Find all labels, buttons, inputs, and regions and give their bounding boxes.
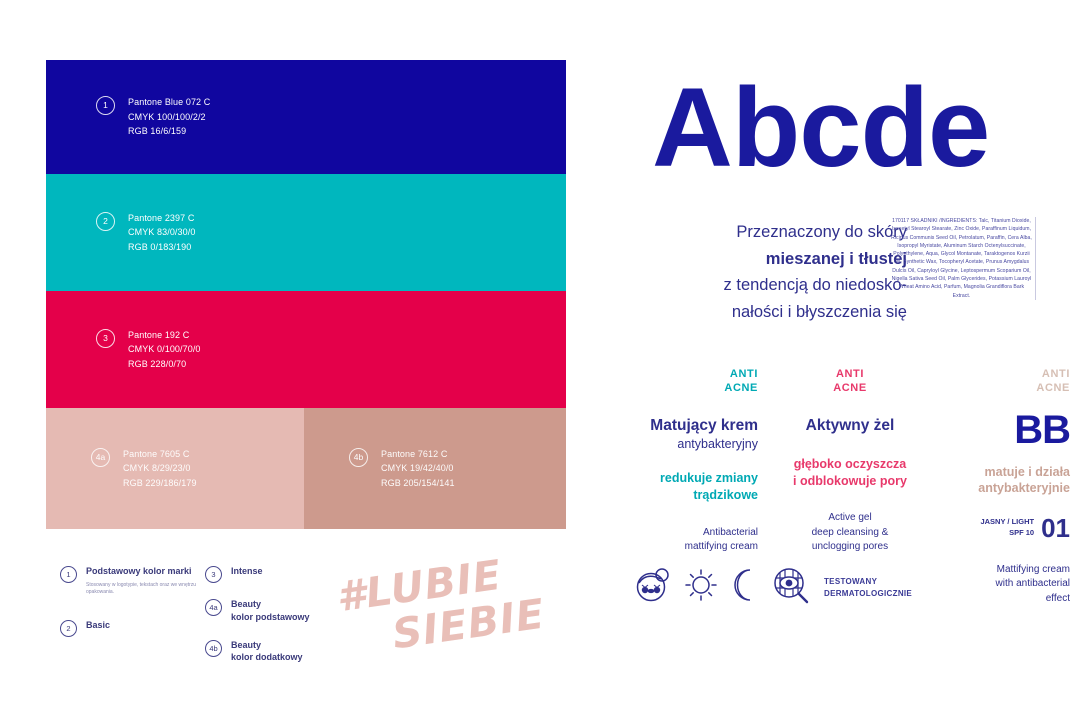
description-line-1: Przeznaczony do skóry (642, 219, 907, 246)
swatch-cmyk: CMYK 0/100/70/0 (128, 342, 201, 357)
anti-acne-label: ANTI ACNE (630, 368, 758, 396)
legend-label: Beauty kolor dodatkowy (231, 639, 303, 665)
color-palette: 1 Pantone Blue 072 C CMYK 100/100/2/2 RG… (46, 60, 566, 529)
product-description: Przeznaczony do skóry mieszanej i tłuste… (642, 219, 907, 326)
swatch-cmyk: CMYK 8/29/23/0 (123, 461, 197, 476)
swatch-pantone: Pantone 7612 C (381, 447, 455, 462)
swatch-pantone: Pantone Blue 072 C (128, 95, 210, 110)
swatch-rgb: RGB 228/0/70 (128, 357, 201, 372)
product-columns: ANTI ACNE Matujący krem antybakteryjny r… (630, 368, 1070, 568)
color-swatch-3: 3 Pantone 192 C CMYK 0/100/70/0 RGB 228/… (46, 291, 566, 408)
legend-item-2: 2 Basic (60, 619, 200, 637)
legend-item-3: 3 Intense (205, 565, 335, 583)
product-title: Matujący krem (630, 416, 758, 436)
face-icon (636, 568, 672, 607)
shade-number: 01 (1041, 515, 1070, 541)
legend-label: Podstawowy kolor marki (86, 565, 200, 578)
anti-acne-label: ANTI ACNE (782, 368, 918, 396)
moon-icon (730, 568, 760, 607)
spf-label: SPF 10 (980, 528, 1034, 539)
eye-magnifier-icon (771, 566, 811, 609)
legend-badge: 4b (205, 640, 222, 657)
product-en-line-1: Active gel (782, 511, 918, 525)
product-claim: głęboko oczyszcza i odblokowuje pory (782, 456, 918, 490)
derma-tested-label: TESTOWANY DERMATOLOGICZNIE (824, 576, 912, 599)
type-specimen: Abcde (652, 72, 989, 184)
product-en-line-2: with antibacterial effect (942, 577, 1070, 605)
legend-item-1: 1 Podstawowy kolor marki Stosowany w log… (60, 565, 200, 597)
product-en-line-1: Mattifying cream (942, 563, 1070, 577)
swatch-cmyk: CMYK 100/100/2/2 (128, 110, 210, 125)
swatch-pantone: Pantone 192 C (128, 328, 201, 343)
legend-column-left: 1 Podstawowy kolor marki Stosowany w log… (60, 565, 200, 650)
swatch-rgb: RGB 16/6/159 (128, 124, 210, 139)
sun-icon (683, 568, 719, 607)
legend-label: Intense (231, 565, 263, 578)
shade-label: JASNY / LIGHT (980, 517, 1034, 528)
swatch-cmyk: CMYK 83/0/30/0 (128, 225, 195, 240)
swatch-cmyk: CMYK 19/42/40/0 (381, 461, 455, 476)
color-swatch-4a: 4a Pantone 7605 C CMYK 8/29/23/0 RGB 229… (46, 408, 304, 529)
legend-label: Beauty kolor podstawowy (231, 598, 310, 624)
swatch-rgb: RGB 229/186/179 (123, 476, 197, 491)
product-column-cream: ANTI ACNE Matujący krem antybakteryjny r… (630, 368, 758, 554)
product-title: BB (942, 410, 1070, 450)
swatch-badge: 3 (96, 329, 115, 348)
legend-label: Basic (86, 619, 110, 632)
swatch-badge: 4b (349, 448, 368, 467)
legend-badge: 3 (205, 566, 222, 583)
legend-badge: 1 (60, 566, 77, 583)
product-en-line-1: Antibacterial (630, 526, 758, 540)
style-guide-page: 1 Pantone Blue 072 C CMYK 100/100/2/2 RG… (0, 0, 1080, 720)
product-claim: redukuje zmiany trądzikowe (630, 470, 758, 504)
product-title: Aktywny żel (782, 416, 918, 436)
color-swatch-4b: 4b Pantone 7612 C CMYK 19/42/40/0 RGB 20… (304, 408, 566, 529)
derma-line-1: TESTOWANY (824, 576, 912, 588)
color-swatch-1: 1 Pantone Blue 072 C CMYK 100/100/2/2 RG… (46, 60, 566, 174)
swatch-badge: 1 (96, 96, 115, 115)
product-en-line-2: deep cleansing & unclogging pores (782, 526, 918, 554)
color-swatch-2: 2 Pantone 2397 C CMYK 83/0/30/0 RGB 0/18… (46, 174, 566, 291)
derma-line-2: DERMATOLOGICZNIE (824, 588, 912, 600)
product-column-gel: ANTI ACNE Aktywny żel głęboko oczyszcza … (782, 368, 918, 554)
legend-item-4a: 4a Beauty kolor podstawowy (205, 598, 335, 624)
ingredients-list: 170117 SKŁADNIKI /INGREDIENTS: Talc, Tit… (891, 217, 1036, 300)
product-column-bb: ANTI ACNE BB matuje i działa antybaktery… (942, 368, 1070, 606)
product-panel: Abcde Przeznaczony do skóry mieszanej i … (600, 0, 1080, 720)
description-line-2: mieszanej i tłustej (642, 246, 907, 273)
product-claim: matuje i działa antybakteryjnie (942, 464, 1070, 498)
swatch-rgb: RGB 0/183/190 (128, 240, 195, 255)
product-en-line-2: mattifying cream (630, 540, 758, 554)
legend-sublabel: Stosowany w logotypie, tekstach oraz we … (86, 582, 200, 597)
legend-item-4b: 4b Beauty kolor dodatkowy (205, 639, 335, 665)
feature-icon-row: TESTOWANY DERMATOLOGICZNIE (636, 566, 912, 609)
description-line-3: z tendencją do niedosko- (642, 272, 907, 299)
hashtag-logo: #LUBIE SIEBIE (336, 556, 571, 656)
legend-badge: 4a (205, 599, 222, 616)
description-line-4: nałości i błyszczenia się (642, 299, 907, 326)
anti-acne-label: ANTI ACNE (942, 368, 1070, 396)
swatch-badge: 2 (96, 212, 115, 231)
legend-badge: 2 (60, 620, 77, 637)
product-subtitle: antybakteryjny (630, 436, 758, 452)
swatch-pantone: Pantone 7605 C (123, 447, 197, 462)
swatch-rgb: RGB 205/154/141 (381, 476, 455, 491)
swatch-pantone: Pantone 2397 C (128, 211, 195, 226)
legend-column-right: 3 Intense 4a Beauty kolor podstawowy 4b … (205, 565, 335, 677)
swatch-badge: 4a (91, 448, 110, 467)
